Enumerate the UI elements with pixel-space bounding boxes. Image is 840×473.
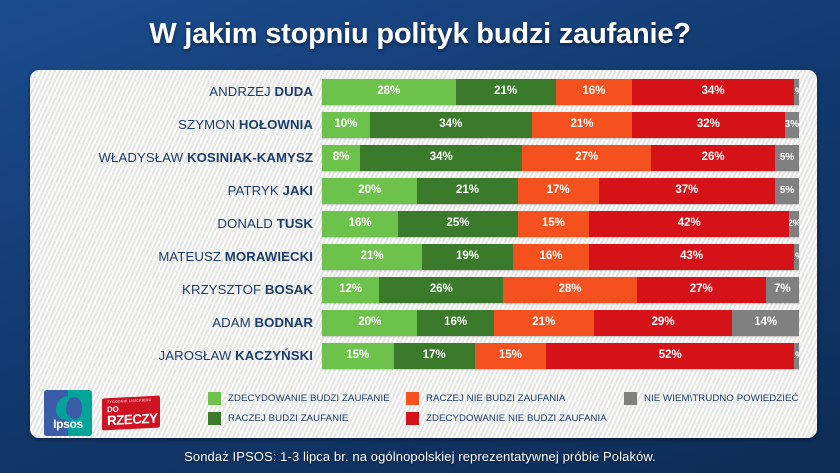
bar-segment: 3%: [785, 112, 799, 138]
bar-segment: 16%: [417, 310, 493, 336]
bar-segment: 1%: [794, 79, 799, 105]
bar-segment: 26%: [651, 145, 775, 171]
politician-surname: HOŁOWNIA: [235, 117, 313, 132]
politician-given-name: ADAM: [212, 315, 251, 330]
bar-segment: 21%: [532, 112, 632, 138]
legend-item-strongly_distrust[interactable]: ZDECYDOWANIE NIE BUDZI ZAUFANIA: [406, 412, 624, 425]
legend-label: ZDECYDOWANIE NIE BUDZI ZAUFANIA: [426, 413, 607, 424]
legend-label: NIE WIEM\TRUDNO POWIEDZIEĆ: [644, 393, 799, 404]
legend-item-dont_know[interactable]: NIE WIEM\TRUDNO POWIEDZIEĆ: [624, 392, 804, 405]
bar-segment: 29%: [594, 310, 732, 336]
stacked-bar: 21%19%16%43%1%: [322, 244, 799, 270]
chart-row: WŁADYSŁAW KOSINIAK-KAMYSZ8%34%27%26%5%: [30, 144, 817, 171]
bar-segment: 19%: [422, 244, 513, 270]
legend-column: RACZEJ NIE BUDZI ZAUFANIAZDECYDOWANIE NI…: [406, 392, 624, 425]
bar-segment: 15%: [322, 343, 394, 369]
bar-segment: 28%: [503, 277, 637, 303]
legend-column: ZDECYDOWANIE BUDZI ZAUFANIERACZEJ BUDZI …: [208, 392, 406, 425]
page-title: W jakim stopniu polityk budzi zaufanie?: [149, 18, 691, 51]
legend-swatch-icon: [208, 392, 221, 405]
politician-surname: DUDA: [271, 84, 313, 99]
politician-given-name: MATEUSZ: [158, 249, 221, 264]
bar-segment: 32%: [632, 112, 785, 138]
politician-name: MATEUSZ MORAWIECKI: [30, 250, 322, 263]
bar-segment: 5%: [775, 178, 799, 204]
legend-item-strongly_trust[interactable]: ZDECYDOWANIE BUDZI ZAUFANIE: [208, 392, 406, 405]
bar-segment: 52%: [546, 343, 794, 369]
politician-surname: JAKI: [279, 183, 313, 198]
politician-surname: BODNAR: [251, 315, 313, 330]
ipsos-logo: Ipsos: [44, 390, 92, 436]
bar-segment: 14%: [732, 310, 799, 336]
bar-segment: 21%: [417, 178, 517, 204]
bar-segment: 37%: [599, 178, 775, 204]
title-bar: W jakim stopniu polityk budzi zaufanie?: [0, 0, 840, 68]
politician-name: PATRYK JAKI: [30, 184, 322, 197]
politician-surname: KOSINIAK-KAMYSZ: [183, 150, 313, 165]
bar-segment: 12%: [322, 277, 379, 303]
chart-row: PATRYK JAKI20%21%17%37%5%: [30, 177, 817, 204]
bar-segment: 34%: [360, 145, 522, 171]
legend-item-rather_distrust[interactable]: RACZEJ NIE BUDZI ZAUFANIA: [406, 392, 624, 405]
chart-card: ANDRZEJ DUDA28%21%16%34%1%SZYMON HOŁOWNI…: [30, 70, 817, 438]
infographic-root: W jakim stopniu polityk budzi zaufanie? …: [0, 0, 840, 473]
politician-name: SZYMON HOŁOWNIA: [30, 118, 322, 131]
legend-label: ZDECYDOWANIE BUDZI ZAUFANIE: [228, 393, 390, 404]
politician-surname: BOSAK: [261, 282, 313, 297]
politician-given-name: ANDRZEJ: [209, 84, 271, 99]
bar-segment: 15%: [518, 211, 590, 237]
politician-name: KRZYSZTOF BOSAK: [30, 283, 322, 296]
bar-segment: 27%: [637, 277, 766, 303]
chart-rows: ANDRZEJ DUDA28%21%16%34%1%SZYMON HOŁOWNI…: [30, 78, 817, 375]
legend-label: RACZEJ BUDZI ZAUFANIE: [228, 413, 348, 424]
politician-name: JAROSŁAW KACZYŃSKI: [30, 349, 322, 362]
bar-segment: 20%: [322, 310, 417, 336]
bar-segment: 16%: [322, 211, 398, 237]
legend-label: RACZEJ NIE BUDZI ZAUFANIA: [426, 393, 566, 404]
politician-name: ADAM BODNAR: [30, 316, 322, 329]
politician-surname: KACZYŃSKI: [231, 348, 313, 363]
stacked-bar: 12%26%28%27%7%: [322, 277, 799, 303]
politician-given-name: KRZYSZTOF: [182, 282, 261, 297]
bar-segment: 15%: [475, 343, 547, 369]
politician-given-name: PATRYK: [228, 183, 279, 198]
chart-row: KRZYSZTOF BOSAK12%26%28%27%7%: [30, 276, 817, 303]
politician-surname: TUSK: [273, 216, 313, 231]
bar-segment: 5%: [775, 145, 799, 171]
stacked-bar: 10%34%21%32%3%: [322, 112, 799, 138]
bar-segment: 21%: [322, 244, 422, 270]
bar-segment: 26%: [379, 277, 503, 303]
chart-row: ADAM BODNAR20%16%21%29%14%: [30, 309, 817, 336]
bar-segment: 8%: [322, 145, 360, 171]
stacked-bar: 20%21%17%37%5%: [322, 178, 799, 204]
politician-name: ANDRZEJ DUDA: [30, 85, 322, 98]
footer-note: Sondaż IPSOS: 1-3 lipca br. na ogólnopol…: [0, 449, 840, 464]
legend-column: NIE WIEM\TRUDNO POWIEDZIEĆ: [624, 392, 804, 425]
politician-name: DONALD TUSK: [30, 217, 322, 230]
politician-given-name: JAROSŁAW: [159, 348, 232, 363]
bar-segment: 21%: [456, 79, 556, 105]
bar-segment: 10%: [322, 112, 370, 138]
bar-segment: 17%: [518, 178, 599, 204]
bar-segment: 34%: [370, 112, 532, 138]
ipsos-face-secondary-icon: [66, 397, 82, 419]
bar-segment: 2%: [789, 211, 799, 237]
bar-segment: 21%: [494, 310, 594, 336]
bar-segment: 17%: [394, 343, 475, 369]
bar-segment: 16%: [513, 244, 589, 270]
bar-segment: 25%: [398, 211, 517, 237]
stacked-bar: 8%34%27%26%5%: [322, 145, 799, 171]
legend-swatch-icon: [406, 392, 419, 405]
politician-given-name: SZYMON: [178, 117, 235, 132]
stacked-bar: 28%21%16%34%1%: [322, 79, 799, 105]
dorzeczy-line2: RZECZY: [107, 411, 160, 427]
bar-segment: 27%: [522, 145, 651, 171]
bar-segment: 20%: [322, 178, 417, 204]
politician-name: WŁADYSŁAW KOSINIAK-KAMYSZ: [30, 151, 322, 164]
bar-segment: 28%: [322, 79, 456, 105]
stacked-bar: 20%16%21%29%14%: [322, 310, 799, 336]
bar-segment: 16%: [556, 79, 632, 105]
dorzeczy-logo: TYGODNIK LISICKIEGO DO RZECZY: [102, 395, 160, 430]
bar-segment: 1%: [794, 343, 799, 369]
politician-given-name: WŁADYSŁAW: [99, 150, 184, 165]
legend-swatch-icon: [406, 412, 419, 425]
stacked-bar: 15%17%15%52%1%: [322, 343, 799, 369]
stacked-bar: 16%25%15%42%2%: [322, 211, 799, 237]
chart-row: DONALD TUSK16%25%15%42%2%: [30, 210, 817, 237]
chart-row: MATEUSZ MORAWIECKI21%19%16%43%1%: [30, 243, 817, 270]
legend-item-rather_trust[interactable]: RACZEJ BUDZI ZAUFANIE: [208, 412, 406, 425]
logo-group: Ipsos TYGODNIK LISICKIEGO DO RZECZY: [44, 390, 160, 436]
bar-segment: 7%: [766, 277, 799, 303]
chart-row: ANDRZEJ DUDA28%21%16%34%1%: [30, 78, 817, 105]
chart-row: SZYMON HOŁOWNIA10%34%21%32%3%: [30, 111, 817, 138]
chart-legend: ZDECYDOWANIE BUDZI ZAUFANIERACZEJ BUDZI …: [208, 392, 808, 425]
bar-segment: 1%: [794, 244, 799, 270]
bar-segment: 34%: [632, 79, 794, 105]
chart-row: JAROSŁAW KACZYŃSKI15%17%15%52%1%: [30, 342, 817, 369]
politician-surname: MORAWIECKI: [221, 249, 313, 264]
legend-swatch-icon: [208, 412, 221, 425]
legend-swatch-icon: [624, 392, 637, 405]
ipsos-wordmark: Ipsos: [44, 417, 92, 431]
politician-given-name: DONALD: [217, 216, 273, 231]
bar-segment: 43%: [589, 244, 794, 270]
bar-segment: 42%: [589, 211, 789, 237]
